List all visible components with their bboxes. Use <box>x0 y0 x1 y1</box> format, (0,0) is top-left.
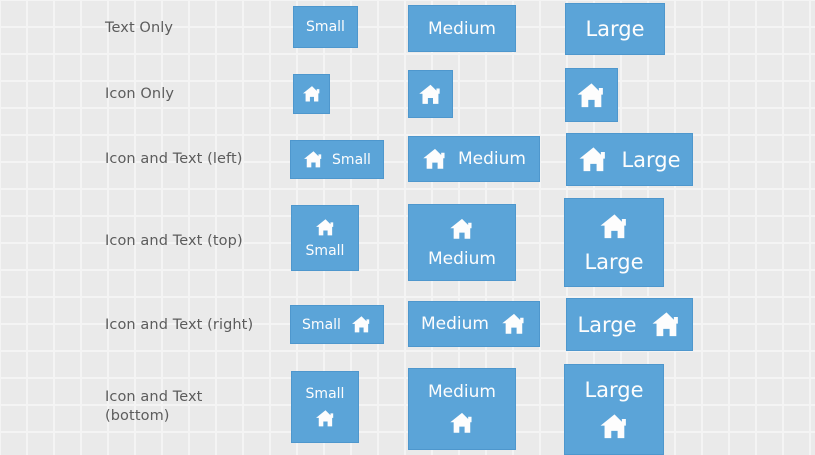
home-icon <box>651 309 682 340</box>
home-icon <box>422 146 448 172</box>
home-icon <box>315 408 336 429</box>
row-label-icon-and-text-left: Icon and Text (left) <box>105 150 280 169</box>
button-label: Small <box>332 152 371 168</box>
button-label: Large <box>621 148 680 172</box>
home-icon <box>576 80 607 111</box>
button-icon-text-left-medium[interactable]: Medium <box>408 136 540 182</box>
button-label: Large <box>584 250 643 274</box>
button-icon-text-top-medium[interactable]: Medium <box>408 204 516 281</box>
row-label-icon-and-text-top: Icon and Text (top) <box>105 232 280 251</box>
button-icon-only-medium[interactable] <box>408 70 453 118</box>
button-icon-text-right-large[interactable]: Large <box>566 298 693 351</box>
button-icon-text-bottom-small[interactable]: Small <box>291 371 359 443</box>
row-label-text-only: Text Only <box>105 19 280 38</box>
button-label: Small <box>306 243 345 259</box>
row-label-icon-only: Icon Only <box>105 85 280 104</box>
home-icon <box>315 217 336 238</box>
button-label: Large <box>585 17 644 41</box>
home-icon <box>578 144 609 175</box>
button-icon-text-right-medium[interactable]: Medium <box>408 301 540 347</box>
home-icon <box>303 149 324 170</box>
button-label: Medium <box>421 314 489 334</box>
button-text-only-medium[interactable]: Medium <box>408 5 516 52</box>
home-icon <box>599 411 630 442</box>
home-icon <box>351 314 372 335</box>
button-showcase-board: Text Only Small Medium Large Icon Only I… <box>0 0 815 455</box>
button-text-only-large[interactable]: Large <box>565 3 665 55</box>
button-icon-only-small[interactable] <box>293 74 330 114</box>
button-label: Medium <box>428 249 496 269</box>
button-text-only-small[interactable]: Small <box>293 6 358 48</box>
row-label-icon-and-text-bottom: Icon and Text (bottom) <box>105 388 280 426</box>
home-icon <box>418 82 443 107</box>
home-icon <box>302 84 322 104</box>
button-icon-text-top-small[interactable]: Small <box>291 205 359 271</box>
button-label: Large <box>584 378 643 402</box>
button-label: Small <box>306 386 345 402</box>
button-icon-text-left-large[interactable]: Large <box>566 133 693 186</box>
button-label: Large <box>577 313 636 337</box>
button-icon-only-large[interactable] <box>565 68 618 122</box>
home-icon <box>599 211 630 242</box>
button-icon-text-bottom-medium[interactable]: Medium <box>408 368 516 450</box>
button-label: Small <box>306 19 345 35</box>
button-label: Medium <box>428 19 496 39</box>
home-icon <box>449 216 475 242</box>
button-label: Medium <box>428 382 496 402</box>
button-icon-text-bottom-large[interactable]: Large <box>564 364 664 455</box>
home-icon <box>501 311 527 337</box>
home-icon <box>449 410 475 436</box>
button-label: Small <box>302 317 341 333</box>
button-label: Medium <box>458 149 526 169</box>
button-icon-text-right-small[interactable]: Small <box>290 305 384 344</box>
button-icon-text-left-small[interactable]: Small <box>290 140 384 179</box>
row-label-icon-and-text-right: Icon and Text (right) <box>105 316 280 335</box>
button-icon-text-top-large[interactable]: Large <box>564 198 664 287</box>
